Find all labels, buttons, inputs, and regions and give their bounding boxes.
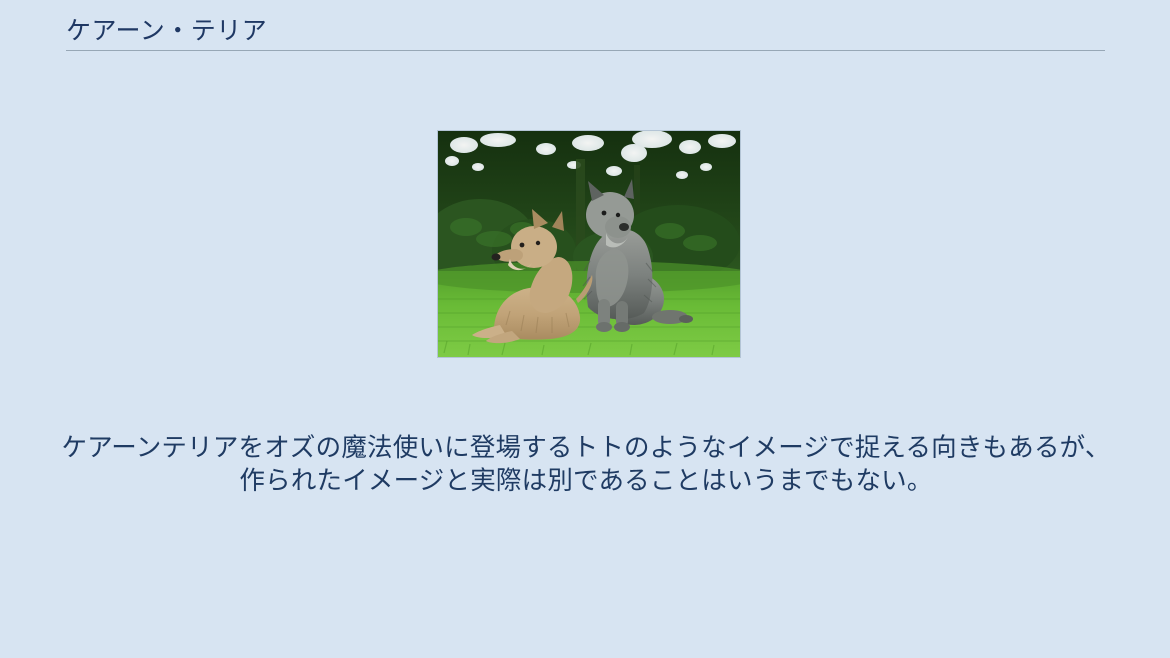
terrier-photo xyxy=(438,131,740,357)
slide-caption: ケアーンテリアをオズの魔法使いに登場するトトのようなイメージで捉える向きもあるが… xyxy=(60,432,1112,498)
slide: ケアーン・テリア xyxy=(0,0,1170,658)
title-block: ケアーン・テリア xyxy=(66,14,1106,48)
page-title: ケアーン・テリア xyxy=(66,14,1106,48)
photo-illustration xyxy=(438,131,740,357)
title-divider xyxy=(66,50,1105,51)
